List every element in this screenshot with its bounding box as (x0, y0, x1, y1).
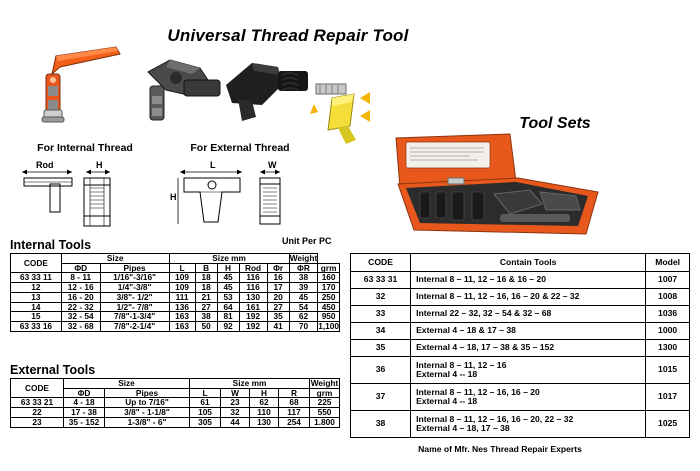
cell-rod: 192 (239, 321, 267, 331)
cell-model: 1036 (646, 306, 690, 323)
cell-code: 34 (351, 323, 411, 340)
cell-l: 105 (190, 408, 221, 418)
cell-pipes: 7/8"-1-3/4" (100, 312, 169, 322)
die-head-illustration (222, 55, 322, 127)
header-contain-tools: Contain Tools (411, 254, 646, 272)
cell-b: 21 (195, 292, 217, 302)
cell-h: 81 (217, 312, 239, 322)
cell-model: 1007 (646, 272, 690, 289)
header-size-mm: Size mm (190, 379, 310, 389)
cell-b: 38 (195, 312, 217, 322)
cell-phi-d: 35 - 152 (64, 417, 105, 427)
cell-h: 92 (217, 321, 239, 331)
cell-l: 109 (169, 283, 195, 293)
cell-code: 13 (11, 292, 62, 302)
cell-h: 45 (217, 283, 239, 293)
svg-text:Rod: Rod (36, 160, 54, 170)
cell-code: 36 (351, 357, 411, 384)
cell-model: 1300 (646, 340, 690, 357)
cell-contain-tools: Internal 8 – 11, 12 – 16, 16 – 20 Extern… (411, 384, 646, 411)
cell-l: 305 (190, 417, 221, 427)
cell-code: 23 (11, 417, 64, 427)
svg-text:L: L (210, 160, 216, 170)
cell-rod: 130 (239, 292, 267, 302)
cell-phi-r: 41 (267, 321, 289, 331)
table-header-row: CODE Size Size mm Weight (11, 254, 340, 264)
cell-contain-tools: Internal 8 – 11, 12 – 16, 16 – 20 & 22 –… (411, 289, 646, 306)
cell-code: 63 33 16 (11, 321, 62, 331)
table-row: 22 17 - 38 3/8" - 1-1/8" 105 32 110 117 … (11, 408, 340, 418)
table-row: 33 Internal 22 – 32, 32 – 54 & 32 – 68 1… (351, 306, 690, 323)
cell-l: 111 (169, 292, 195, 302)
svg-text:H: H (170, 192, 177, 202)
table-row: 63 33 31 Internal 8 – 11, 12 – 16 & 16 –… (351, 272, 690, 289)
internal-tools-table: CODE Size Size mm Weight ΦD Pipes L B H … (10, 253, 340, 332)
internal-tools-heading: Internal Tools (10, 238, 91, 252)
cell-rod: 192 (239, 312, 267, 322)
cell-phi-d: 32 - 54 (61, 312, 100, 322)
cell-l: 163 (169, 321, 195, 331)
cell-contain-tools: External 4 – 18, 17 – 38 & 35 – 152 (411, 340, 646, 357)
caption-external-thread: For External Thread (160, 142, 320, 154)
cell-contain-tools: Internal 22 – 32, 32 – 54 & 32 – 68 (411, 306, 646, 323)
cell-phi-R: 70 (289, 321, 318, 331)
table-row: 12 12 - 16 1/4"-3/8" 109 18 45 116 17 39… (11, 283, 340, 293)
header-code: CODE (11, 379, 64, 398)
table-row: 34 External 4 – 18 & 17 – 38 1000 (351, 323, 690, 340)
cell-pipes: 7/8"-2-1/4" (100, 321, 169, 331)
cell-contain-tools: Internal 8 – 11, 12 – 16 External 4 -- 1… (411, 357, 646, 384)
table-row: 23 35 - 152 1-3/8" - 6" 305 44 130 254 1… (11, 417, 340, 427)
cell-contain-tools: Internal 8 – 11, 12 – 16, 16 – 20, 22 – … (411, 411, 646, 438)
internal-dimension-drawing: Rod H (14, 158, 154, 230)
caption-internal-thread: For Internal Thread (10, 142, 160, 154)
cell-r: 117 (279, 408, 310, 418)
cell-phi-d: 16 - 20 (61, 292, 100, 302)
cell-model: 1017 (646, 384, 690, 411)
cell-h: 130 (250, 417, 279, 427)
svg-text:W: W (268, 160, 277, 170)
table-header-row: CODE Contain Tools Model (351, 254, 690, 272)
cell-weight: 1,100 (318, 321, 340, 331)
cell-phi-r: 17 (267, 283, 289, 293)
external-tools-heading: External Tools (10, 363, 95, 377)
cell-r: 254 (279, 417, 310, 427)
cell-phi-R: 39 (289, 283, 318, 293)
manufacturer-note: Name of Mfr. Nes Thread Repair Experts (355, 444, 645, 454)
cell-code: 32 (351, 289, 411, 306)
cell-contain-tools: Internal 8 – 11, 12 – 16 & 16 – 20 (411, 272, 646, 289)
cell-code: 33 (351, 306, 411, 323)
catalog-page: Universal Thread Repair Tool Tool Sets (0, 0, 700, 471)
external-thread-tool-illustration (140, 50, 235, 130)
cell-code: 35 (351, 340, 411, 357)
cell-pipes: 1/4"-3/8" (100, 283, 169, 293)
table-row: 35 External 4 – 18, 17 – 38 & 35 – 152 1… (351, 340, 690, 357)
header-code: CODE (11, 254, 62, 273)
table-row: 15 32 - 54 7/8"-1-3/4" 163 38 81 192 35 … (11, 312, 340, 322)
header-model: Model (646, 254, 690, 272)
cell-phi-d: 17 - 38 (64, 408, 105, 418)
cell-b: 50 (195, 321, 217, 331)
header-size: Size (61, 254, 169, 264)
tool-set-case-photo (390, 130, 605, 240)
cell-contain-tools: External 4 – 18 & 17 – 38 (411, 323, 646, 340)
svg-text:H: H (96, 160, 103, 170)
header-weight: Weight (310, 379, 340, 389)
cell-phi-R: 45 (289, 292, 318, 302)
cell-model: 1025 (646, 411, 690, 438)
cell-phi-r: 20 (267, 292, 289, 302)
header-code: CODE (351, 254, 411, 272)
table-row: 38 Internal 8 – 11, 12 – 16, 16 – 20, 22… (351, 411, 690, 438)
cell-code: 38 (351, 411, 411, 438)
cell-l: 163 (169, 312, 195, 322)
cell-weight: 250 (318, 292, 340, 302)
page-title: Universal Thread Repair Tool (133, 26, 443, 46)
table-row: 32 Internal 8 – 11, 12 – 16, 16 – 20 & 2… (351, 289, 690, 306)
cell-weight: 550 (310, 408, 340, 418)
unit-note: Unit Per PC (282, 236, 332, 246)
cell-pipes: 1-3/8" - 6" (105, 417, 190, 427)
cell-weight: 1.800 (310, 417, 340, 427)
cell-rod: 116 (239, 283, 267, 293)
table-row: 36 Internal 8 – 11, 12 – 16 External 4 -… (351, 357, 690, 384)
header-size-mm: Size mm (169, 254, 289, 264)
table-row: 37 Internal 8 – 11, 12 – 16, 16 – 20 Ext… (351, 384, 690, 411)
table-header-row: CODE Size Size mm Weight (11, 379, 340, 389)
cell-phi-d: 12 - 16 (61, 283, 100, 293)
cell-code: 63 33 31 (351, 272, 411, 289)
cell-weight: 170 (318, 283, 340, 293)
cell-model: 1015 (646, 357, 690, 384)
cell-w: 44 (221, 417, 250, 427)
cell-h: 110 (250, 408, 279, 418)
cell-model: 1008 (646, 289, 690, 306)
internal-thread-tool-illustration (32, 38, 142, 128)
tool-sets-table: CODE Contain Tools Model 63 33 31 Intern… (350, 253, 690, 438)
cell-code: 37 (351, 384, 411, 411)
cell-code: 15 (11, 312, 62, 322)
external-dimension-drawing: L W H (168, 158, 298, 232)
yellow-wedge-tool-illustration (308, 78, 388, 148)
cell-b: 18 (195, 283, 217, 293)
table-row: 13 16 - 20 3/8"- 1/2" 111 21 53 130 20 4… (11, 292, 340, 302)
cell-phi-d: 32 - 68 (61, 321, 100, 331)
cell-code: 22 (11, 408, 64, 418)
cell-phi-R: 62 (289, 312, 318, 322)
cell-h: 53 (217, 292, 239, 302)
header-size: Size (64, 379, 190, 389)
cell-pipes: 3/8"- 1/2" (100, 292, 169, 302)
header-weight: Weight (289, 254, 318, 264)
cell-code: 12 (11, 283, 62, 293)
cell-phi-r: 35 (267, 312, 289, 322)
cell-w: 32 (221, 408, 250, 418)
external-tools-table: CODE Size Size mm Weight ΦD Pipes L W H … (10, 378, 340, 428)
cell-model: 1000 (646, 323, 690, 340)
table-row: 63 33 16 32 - 68 7/8"-2-1/4" 163 50 92 1… (11, 321, 340, 331)
cell-weight: 950 (318, 312, 340, 322)
cell-pipes: 3/8" - 1-1/8" (105, 408, 190, 418)
